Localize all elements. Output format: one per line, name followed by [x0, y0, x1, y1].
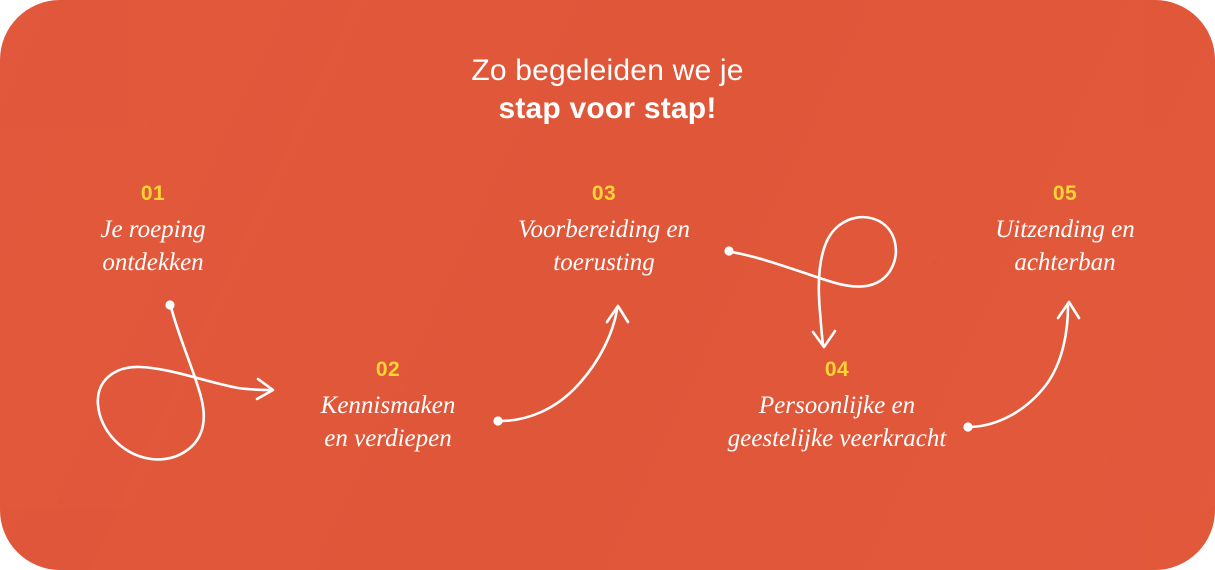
step-item-05: 05 Uitzending en achterban [955, 182, 1175, 279]
page-title-line-1: Zo begeleiden we je [0, 52, 1215, 90]
connector-02-to-03 [493, 306, 628, 426]
step-item-03: 03 Voorbereiding en toerusting [489, 182, 719, 279]
connector-02-arrowhead [607, 306, 628, 322]
connector-04-arrowhead [1058, 302, 1079, 318]
page-title-line-2: stap voor stap! [0, 90, 1215, 128]
step-label-01: Je roeping ontdekken [47, 213, 259, 279]
step-label-02: Kennismaken en verdiepen [278, 389, 498, 455]
step-item-02: 02 Kennismaken en verdiepen [278, 358, 498, 455]
connector-04-to-05 [963, 302, 1079, 432]
step-label-03: Voorbereiding en toerusting [489, 213, 719, 279]
step-number-03: 03 [489, 182, 719, 206]
step-item-01: 01 Je roeping ontdekken [47, 182, 259, 279]
step-number-04: 04 [712, 358, 962, 382]
page-title: Zo begeleiden we je stap voor stap! [0, 52, 1215, 129]
connector-04-path [970, 306, 1068, 427]
step-label-04: Persoonlijke en geestelijke veerkracht [712, 389, 962, 455]
connector-03-path [731, 217, 896, 345]
connector-03-arrowhead [813, 331, 835, 347]
connector-01-arrowhead [257, 379, 273, 399]
steps-infographic-card: Zo begeleiden we je stap voor stap! [0, 0, 1215, 570]
connector-02-path [500, 310, 617, 421]
step-label-05: Uitzending en achterban [955, 213, 1175, 279]
step-number-01: 01 [47, 182, 259, 206]
step-number-05: 05 [955, 182, 1175, 206]
connector-01-start-dot [165, 300, 174, 309]
connector-04-start-dot [963, 422, 972, 431]
connector-01-to-02 [98, 300, 273, 459]
step-item-04: 04 Persoonlijke en geestelijke veerkrach… [712, 358, 962, 455]
connector-03-start-dot [724, 246, 733, 255]
step-number-02: 02 [278, 358, 498, 382]
connector-03-to-04 [724, 217, 895, 347]
connector-01-path [98, 307, 272, 459]
